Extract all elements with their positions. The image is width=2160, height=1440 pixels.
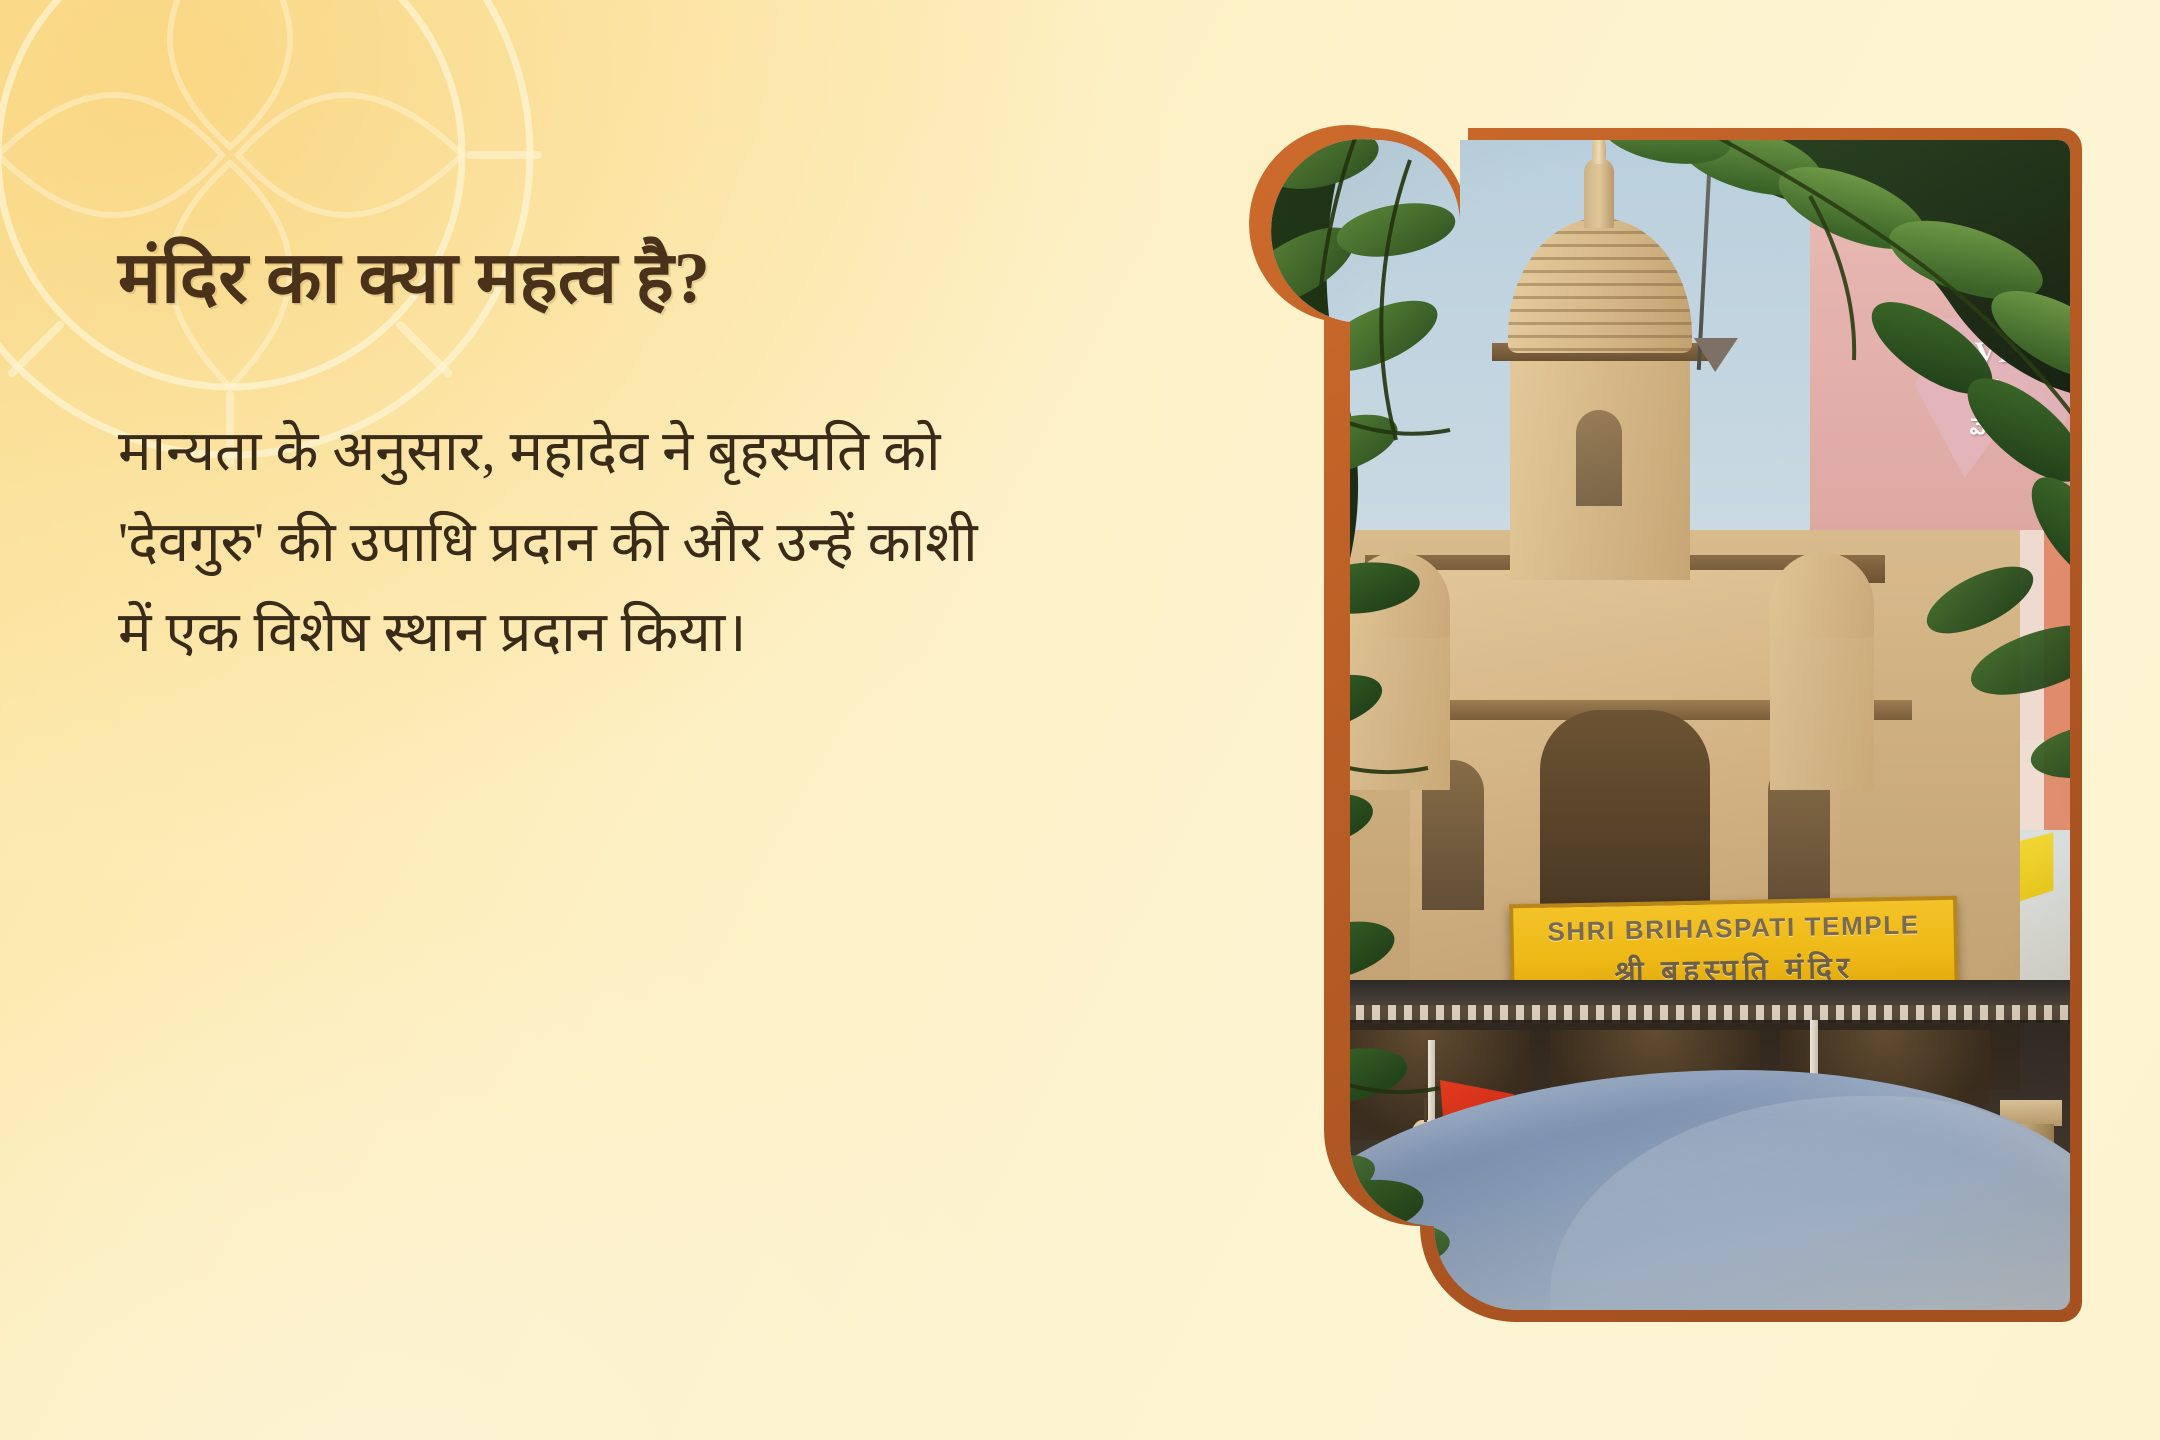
background-bottom-fade	[0, 920, 1200, 1440]
text-column: मंदिर का क्या महत्व है? मान्यता के अनुसा…	[118, 236, 1048, 679]
page-title: मंदिर का क्या महत्व है?	[118, 236, 1048, 321]
slide-root: मंदिर का क्या महत्व है? मान्यता के अनुसा…	[0, 0, 2160, 1440]
temple-photo-frame: VE L వెంకటే	[1110, 100, 2110, 1350]
body-paragraph: मान्यता के अनुसार, महादेव ने बृहस्पति को…	[118, 407, 998, 679]
